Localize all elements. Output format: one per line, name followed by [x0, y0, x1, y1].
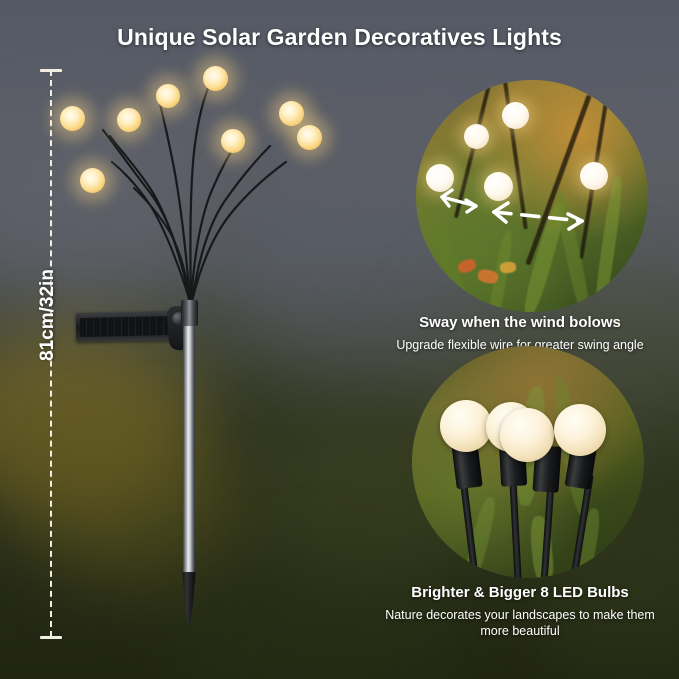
sway-photo-inset	[416, 80, 648, 312]
feature-headline: Brighter & Bigger 8 LED Bulbs	[370, 583, 670, 603]
led-bulb-closeup	[500, 408, 554, 462]
led-bulb-closeup	[440, 400, 492, 452]
led-bulb	[60, 106, 85, 131]
feature-headline: Sway when the wind bolows	[370, 313, 670, 333]
solar-firefly-garden-light	[0, 0, 360, 679]
product-infographic: Unique Solar Garden Decoratives Lights 8…	[0, 0, 679, 679]
stem-collar	[181, 300, 198, 326]
motion-arrows	[416, 80, 648, 312]
solar-panel	[76, 311, 179, 342]
led-bulb	[221, 129, 245, 153]
led-bulb	[156, 84, 180, 108]
led-bulb	[297, 125, 322, 150]
led-bulb	[203, 66, 228, 91]
led-bulb-closeup	[554, 404, 606, 456]
led-bulb	[80, 168, 105, 193]
feature-caption-bulbs: Brighter & Bigger 8 LED Bulbs Nature dec…	[370, 583, 670, 640]
led-bulb	[117, 108, 141, 132]
feature-subline: Nature decorates your landscapes to make…	[370, 607, 670, 640]
metal-stake	[183, 326, 195, 576]
led-bulbs-photo-inset	[412, 346, 644, 578]
